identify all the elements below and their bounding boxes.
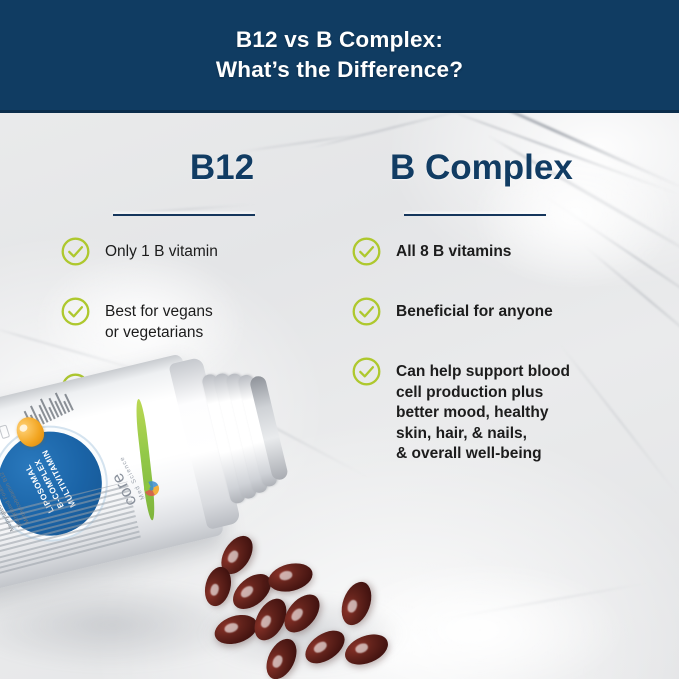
check-circle-icon xyxy=(60,296,91,327)
column-heading-b12: B12 xyxy=(60,150,360,185)
column-heading-b-complex: B Complex xyxy=(351,150,661,185)
list-item-label: Best for vegans or vegetarians xyxy=(105,298,213,343)
list-item: Best for vegans or vegetarians xyxy=(60,298,360,343)
check-circle-icon xyxy=(351,236,382,267)
page-title: B12 vs B Complex: What’s the Difference? xyxy=(216,25,463,84)
list-item-label: Beneficial for anyone xyxy=(396,298,553,323)
heading-divider xyxy=(113,214,255,216)
check-circle-icon xyxy=(351,356,382,387)
list-item-label: Can help support blood cell production p… xyxy=(396,358,570,465)
page-title-line-2: What’s the Difference? xyxy=(216,55,463,85)
list-item: Beneficial for anyone xyxy=(351,298,661,327)
list-item: Only 1 B vitamin xyxy=(60,238,360,267)
page-title-line-1: B12 vs B Complex: xyxy=(236,27,443,52)
infographic-canvas: B12 vs B Complex: What’s the Difference?… xyxy=(0,0,679,679)
list-item-label: All 8 B vitamins xyxy=(396,238,511,263)
check-circle-icon xyxy=(351,296,382,327)
product-photo: LIPOSOMAL B-COMPLEX MULTIVITAMIN core Me… xyxy=(0,404,418,679)
list-item-label: Only 1 B vitamin xyxy=(105,238,218,263)
list-item: All 8 B vitamins xyxy=(351,238,661,267)
header-banner: B12 vs B Complex: What’s the Difference? xyxy=(0,0,679,113)
heading-divider xyxy=(404,214,546,216)
capsule xyxy=(265,559,315,596)
check-circle-icon xyxy=(60,236,91,267)
